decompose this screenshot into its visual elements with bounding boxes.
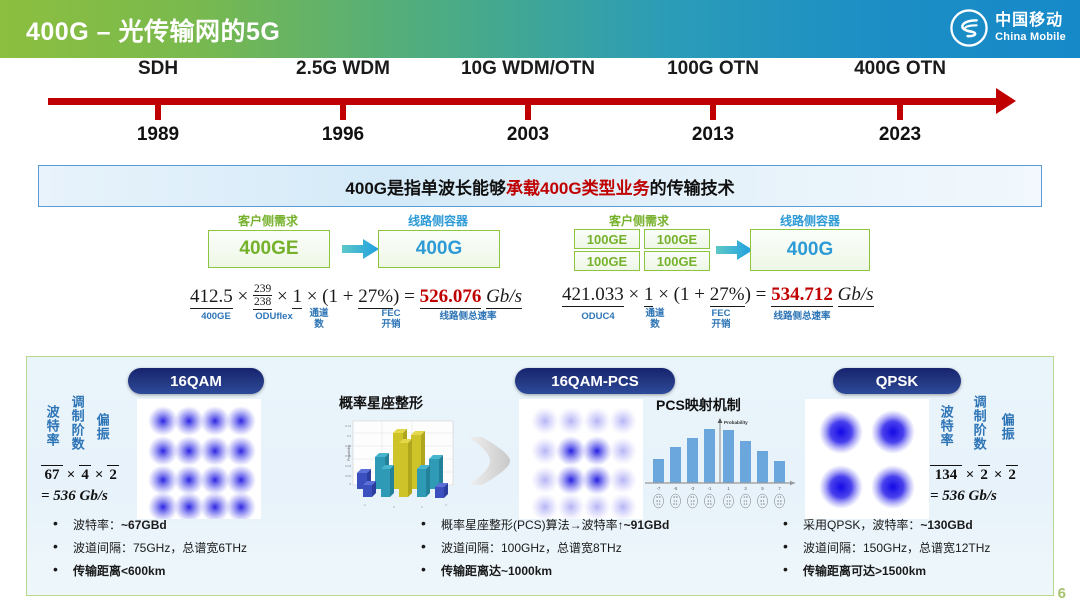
probabilistic-shaping-3d-chart: Probability 0.120.10.08 0.060.040.020 (337, 413, 463, 513)
formula-term-oduflex: 239 238 (253, 283, 272, 310)
formula-term-baserate: 421.033 (562, 284, 624, 307)
bullet-bold: 传输距离达~1000km (441, 564, 552, 578)
calc-baud-value: 67 (41, 465, 63, 484)
frac-numerator: 239 (253, 283, 272, 296)
calc-16qam: 67 × 4 × 2 = 536 Gb/s (41, 465, 133, 505)
formula-label-channels: 通道 数 (638, 309, 672, 330)
pcs-mapping-title: PCS映射机制 (656, 395, 741, 415)
formula-label-total: 线路侧总速率 (756, 312, 848, 323)
formula-label-channels: 通道 数 (302, 309, 336, 330)
formula-label-channels-l1: 通道 (645, 308, 664, 319)
svg-text:0.1: 0.1 (347, 434, 352, 438)
definition-highlight: 承载400G类型业务 (506, 179, 650, 198)
panel-qpsk-bullets: 采用QPSK，波特率：~130GBd 波道间隔：150GHz，总谱宽12THz … (775, 516, 1065, 585)
svg-text:0.12: 0.12 (345, 424, 351, 428)
bullet-text: 波道间隔：150GHz，总谱宽12THz (803, 541, 990, 555)
client-capacity-box-3: 100GE (644, 251, 710, 271)
bullet-text: 概率星座整形(PCS)算法→波特率↑ (441, 518, 624, 532)
formula-term-channels: 1 (644, 284, 654, 307)
calc-16qam-expr: 67 × 4 × 2 (41, 465, 133, 484)
calc-16qam-result: = 536 Gb/s (41, 488, 133, 505)
formula-unit: Gb/s (486, 286, 522, 309)
formula-term-baserate: 412.5 (190, 286, 233, 309)
svg-text:0: 0 (393, 505, 395, 509)
formula-label-channels-l1: 通道 (309, 308, 328, 319)
formula-result: 534.712 (771, 284, 833, 307)
client-capacity-box-2: 100GE (574, 251, 640, 271)
formula-label-channels-l2: 数 (314, 319, 324, 330)
client-capacity-box: 400GE (208, 230, 330, 268)
formula-term-channels: 1 (292, 286, 302, 309)
panel-16qam-pcs: 概率星座整形 Probability 0.120.10.08 0.060.040… (327, 357, 757, 597)
conversion-arrow-icon (716, 239, 754, 261)
formula-label-oduflex: ODUflex (242, 312, 306, 323)
calc-order-value: 2 (978, 465, 990, 484)
svg-text:0.04: 0.04 (345, 464, 351, 468)
bullet-bold: ~130GBd (920, 518, 972, 532)
formula-label-fec: FEC 开销 (703, 309, 739, 330)
list-item: 波特率：~67GBd (45, 516, 375, 533)
calc-pol-value: 2 (1006, 465, 1018, 484)
list-item: 传输距离达~1000km (413, 562, 813, 579)
list-item: 采用QPSK，波特率：~130GBd (775, 516, 1065, 533)
label-polarization: 偏振 (95, 413, 109, 459)
line-capacity-label: 400G (787, 239, 833, 261)
bullet-text: 波道间隔：100GHz，总谱宽8THz (441, 541, 622, 555)
client-capacity-box-0: 100GE (574, 229, 640, 249)
qpsk-constellation (805, 399, 929, 519)
line-side-header: 线路侧容器 (378, 212, 498, 229)
svg-text:4: 4 (445, 503, 447, 507)
timeline-tick (525, 98, 531, 120)
formula-400ge: 412.5 × 239 238 × 1 × (1 + 27%) = 526.07… (190, 284, 522, 311)
list-item: 波道间隔：75GHz，总谱宽6THz (45, 539, 375, 556)
panel-16qam-badge: 16QAM (128, 368, 264, 394)
client-capacity-label: 100GE (587, 232, 627, 247)
timeline-item-3: 100G OTN 2013 (628, 58, 798, 80)
svg-text:1: 1 (727, 486, 730, 491)
formula-label-fec-l2: 开销 (381, 319, 400, 330)
timeline-year-label: 1989 (73, 124, 243, 146)
bullet-text: 波特率： (73, 518, 121, 532)
svg-text:0.06: 0.06 (345, 454, 351, 458)
calc-qpsk-expr: 134 × 2 × 2 (930, 465, 1040, 484)
page-number: 6 (1058, 585, 1066, 602)
label-polarization: 偏振 (1000, 413, 1014, 459)
panel-qpsk-badge: QPSK (833, 368, 961, 394)
line-capacity-box: 400G (378, 230, 500, 268)
svg-text:0 1: 0 1 (726, 502, 731, 506)
svg-text:0: 0 (349, 482, 351, 486)
formula-label-fec-l1: FEC (382, 308, 401, 319)
client-capacity-label: 400GE (239, 238, 298, 260)
list-item: 传输距离可达>1500km (775, 562, 1065, 579)
svg-text:-1: -1 (708, 486, 712, 491)
bullet-text: 波道间隔：75GHz，总谱宽6THz (73, 541, 247, 555)
svg-text:0.02: 0.02 (345, 474, 351, 478)
label-baud-rate: 波特率 (939, 405, 953, 461)
formula-label-fec: FEC 开销 (373, 309, 409, 330)
timeline-tick (340, 98, 346, 120)
calc-order-value: 4 (79, 465, 91, 484)
client-capacity-label: 100GE (657, 254, 697, 269)
modulation-comparison-panel: 16QAM 波特率 调制阶数 偏振 67 × 4 × 2 = 536 Gb/s (26, 356, 1054, 596)
client-capacity-box-1: 100GE (644, 229, 710, 249)
bullet-bold: 传输距离可达>1500km (803, 564, 926, 578)
svg-text:3: 3 (744, 486, 747, 491)
svg-text:-3: -3 (691, 486, 695, 491)
pcs-chart-title: 概率星座整形 (339, 393, 423, 413)
transition-arrow-icon (466, 435, 512, 487)
svg-text:1 1: 1 1 (690, 502, 695, 506)
client-capacity-label: 100GE (657, 232, 697, 247)
page-title: 400G – 光传输网的5G (26, 12, 280, 48)
definition-banner: 400G是指单波长能够承载400G类型业务的传输技术 (38, 165, 1042, 207)
timeline-item-0: SDH 1989 (73, 58, 243, 80)
timeline-year-label: 2013 (628, 124, 798, 146)
formula-unit: Gb/s (838, 284, 874, 307)
timeline-year-label: 2003 (443, 124, 613, 146)
svg-text:0 1: 0 1 (673, 502, 678, 506)
formula-term-fec: 27% (710, 284, 745, 307)
timeline-tick (710, 98, 716, 120)
technology-timeline: SDH 1989 2.5G WDM 1996 10G WDM/OTN 2003 … (0, 58, 1080, 163)
list-item: 波道间隔：150GHz，总谱宽12THz (775, 539, 1065, 556)
formula-label-oduc4: ODUC4 (560, 312, 636, 323)
16qam-constellation-plot (137, 399, 261, 519)
logo-text-cn: 中国移动 (995, 13, 1066, 29)
timeline-tick (155, 98, 161, 120)
bullet-bold: ~67GBd (121, 518, 167, 532)
timeline-year-label: 1996 (258, 124, 428, 146)
definition-text: 400G是指单波长能够承载400G类型业务的传输技术 (345, 174, 734, 199)
svg-text:0 0: 0 0 (707, 502, 712, 506)
formula-label-fec-l2: 开销 (711, 319, 730, 330)
formula-term-fec: 27% (358, 286, 393, 309)
timeline-tech-label: 100G OTN (628, 58, 798, 80)
line-side-header: 线路侧容器 (750, 212, 870, 229)
panel-16qam-bullets: 波特率：~67GBd 波道间隔：75GHz，总谱宽6THz 传输距离<600km (45, 516, 375, 585)
list-item: 波道间隔：100GHz，总谱宽8THz (413, 539, 813, 556)
bullet-bold: 传输距离<600km (73, 564, 165, 578)
panel-pcs-badge: 16QAM-PCS (515, 368, 675, 394)
svg-text:Probability: Probability (724, 420, 748, 425)
definition-part2: 的传输技术 (650, 179, 735, 198)
svg-text:2: 2 (421, 505, 423, 509)
svg-text:-2: -2 (363, 503, 366, 507)
timeline-item-1: 2.5G WDM 1996 (258, 58, 428, 80)
timeline-year-label: 2023 (815, 124, 985, 146)
line-capacity-label: 400G (416, 238, 462, 260)
timeline-arrow-icon (996, 88, 1016, 114)
slide: 400G – 光传输网的5G 中国移动 China Mobile SDH 198… (0, 0, 1080, 608)
conversion-arrow-icon (342, 238, 380, 260)
formula-result: 526.076 (420, 286, 482, 309)
timeline-item-2: 10G WDM/OTN 2003 (443, 58, 613, 80)
bullet-bold: ~91GBd (624, 518, 670, 532)
16qam-pcs-constellation (519, 399, 643, 519)
svg-text:1 1: 1 1 (656, 502, 661, 506)
calc-qpsk: 134 × 2 × 2 = 536 Gb/s (930, 465, 1040, 505)
line-capacity-box: 400G (750, 229, 870, 271)
panel-qpsk: QPSK 波特率 调制阶数 (757, 357, 1055, 597)
svg-text:-7: -7 (657, 486, 661, 491)
panel-pcs-bullets: 概率星座整形(PCS)算法→波特率↑~91GBd 波道间隔：100GHz，总谱宽… (413, 516, 813, 585)
timeline-tech-label: 400G OTN (815, 58, 985, 80)
formula-label-baserate: 400GE (188, 312, 244, 323)
label-modulation-order: 调制阶数 (972, 395, 986, 465)
china-mobile-logo-icon (950, 9, 988, 47)
label-baud-rate: 波特率 (45, 405, 59, 461)
calc-pol-value: 2 (107, 465, 119, 484)
frac-denominator: 238 (253, 296, 272, 310)
bullet-text: 采用QPSK，波特率： (803, 518, 920, 532)
timeline-tech-label: 10G WDM/OTN (443, 58, 613, 80)
timeline-tech-label: SDH (73, 58, 243, 80)
label-modulation-order: 调制阶数 (70, 395, 84, 465)
china-mobile-logo: 中国移动 China Mobile (950, 9, 1066, 47)
svg-text:0.08: 0.08 (345, 444, 351, 448)
formula-label-total: 线路侧总速率 (422, 312, 514, 323)
16qam-pcs-constellation-plot (519, 399, 643, 519)
formula-label-fec-l1: FEC (712, 308, 731, 319)
list-item: 传输距离<600km (45, 562, 375, 579)
formula-label-channels-l2: 数 (650, 319, 660, 330)
svg-text:1 1: 1 1 (743, 502, 748, 506)
logo-text-en: China Mobile (995, 32, 1066, 43)
qpsk-constellation-plot (805, 399, 929, 519)
calc-baud-value: 134 (930, 465, 962, 484)
client-capacity-label: 100GE (587, 254, 627, 269)
slide-header: 400G – 光传输网的5G 中国移动 China Mobile (0, 0, 1080, 58)
definition-part1: 400G是指单波长能够 (345, 179, 506, 198)
timeline-item-4: 400G OTN 2023 (815, 58, 985, 80)
timeline-tech-label: 2.5G WDM (258, 58, 428, 80)
calc-qpsk-result: = 536 Gb/s (930, 488, 1040, 505)
client-side-header: 客户侧需求 (208, 212, 328, 229)
list-item: 概率星座整形(PCS)算法→波特率↑~91GBd (413, 516, 813, 533)
client-side-header: 客户侧需求 (574, 212, 704, 229)
16qam-constellation (137, 399, 261, 519)
timeline-tick (897, 98, 903, 120)
svg-text:-5: -5 (674, 486, 678, 491)
formula-oduc4: 421.033 × 1 × (1 + 27%) = 534.712 Gb/s (562, 284, 874, 306)
